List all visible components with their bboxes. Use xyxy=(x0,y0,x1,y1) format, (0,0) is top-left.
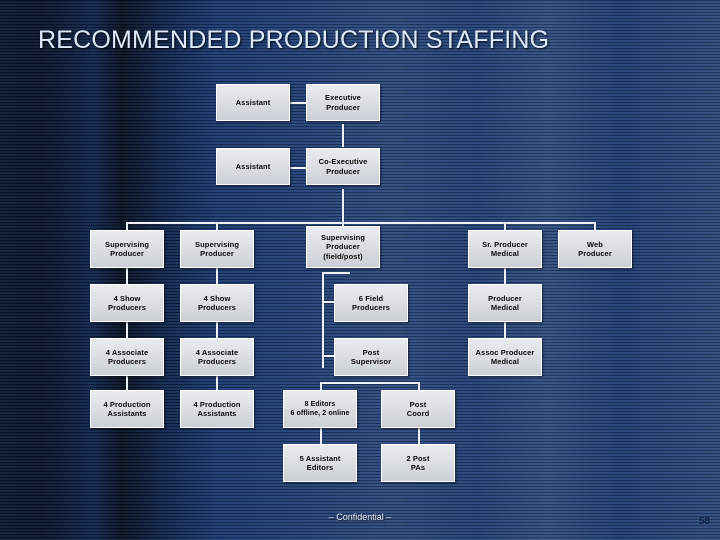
node-production-assistants-1[interactable]: 4 Production Assistants xyxy=(90,390,164,428)
connector-c1-b xyxy=(126,322,128,338)
background-vertical-bands xyxy=(0,0,720,540)
node-post-coord[interactable]: Post Coord xyxy=(381,390,455,428)
node-supervising-producer-1[interactable]: Supervising Producer xyxy=(90,230,164,268)
node-post-supervisor[interactable]: Post Supervisor xyxy=(334,338,408,376)
node-assistant-1[interactable]: Assistant xyxy=(216,84,290,121)
node-sr-producer-medical[interactable]: Sr. Producer Medical xyxy=(468,230,542,268)
connector-c2-b xyxy=(216,322,218,338)
page-title: RECOMMENDED PRODUCTION STAFFING xyxy=(38,26,549,55)
node-assistant-2[interactable]: Assistant xyxy=(216,148,290,185)
node-associate-producers-2[interactable]: 4 Associate Producers xyxy=(180,338,254,376)
connector-c1-a xyxy=(126,268,128,284)
connector-drop-web xyxy=(594,222,596,230)
connector-drop-editors xyxy=(320,382,322,390)
node-supervising-producer-2[interactable]: Supervising Producer xyxy=(180,230,254,268)
connector-postsup-bus xyxy=(320,382,420,384)
node-associate-producers-1[interactable]: 4 Associate Producers xyxy=(90,338,164,376)
connector-coexec-to-bus xyxy=(342,189,344,222)
node-show-producers-2[interactable]: 4 Show Producers xyxy=(180,284,254,322)
node-assistant-editors[interactable]: 5 Assistant Editors xyxy=(283,444,357,482)
node-web-producer[interactable]: Web Producer xyxy=(558,230,632,268)
connector-fp-stub xyxy=(322,272,350,274)
node-field-producers[interactable]: 6 Field Producers xyxy=(334,284,408,322)
slide-canvas: RECOMMENDED PRODUCTION STAFFING Assistan… xyxy=(0,0,720,540)
node-post-pas[interactable]: 2 Post PAs xyxy=(381,444,455,482)
node-production-assistants-2[interactable]: 4 Production Assistants xyxy=(180,390,254,428)
node-editors[interactable]: 8 Editors 6 offline, 2 online xyxy=(283,390,357,428)
connector-drop-postcoord xyxy=(418,382,420,390)
connector-postcoord-to-pas xyxy=(418,428,420,444)
connector-fp-spine xyxy=(322,272,324,368)
node-executive-producer[interactable]: Executive Producer xyxy=(306,84,380,121)
page-number: 58 xyxy=(699,516,710,527)
connector-exec-to-coexec xyxy=(342,124,344,147)
connector-bus-row3 xyxy=(126,222,594,224)
node-producer-medical[interactable]: Producer Medical xyxy=(468,284,542,322)
connector-med-b xyxy=(504,322,506,338)
background-scanlines xyxy=(0,0,720,540)
connector-drop-sp2 xyxy=(216,222,218,230)
footer-confidential: – Confidential – xyxy=(0,512,720,522)
connector-c2-a xyxy=(216,268,218,284)
node-supervising-producer-fieldpost[interactable]: Supervising Producer (field/post) xyxy=(306,226,380,268)
connector-fp-to-field xyxy=(322,301,334,303)
connector-drop-sp1 xyxy=(126,222,128,230)
node-assoc-producer-medical[interactable]: Assoc Producer Medical xyxy=(468,338,542,376)
connector-editors-to-assted xyxy=(320,428,322,444)
connector-fp-to-postsup xyxy=(322,355,334,357)
node-co-executive-producer[interactable]: Co-Executive Producer xyxy=(306,148,380,185)
connector-drop-srmed xyxy=(504,222,506,230)
connector-med-a xyxy=(504,268,506,284)
node-show-producers-1[interactable]: 4 Show Producers xyxy=(90,284,164,322)
